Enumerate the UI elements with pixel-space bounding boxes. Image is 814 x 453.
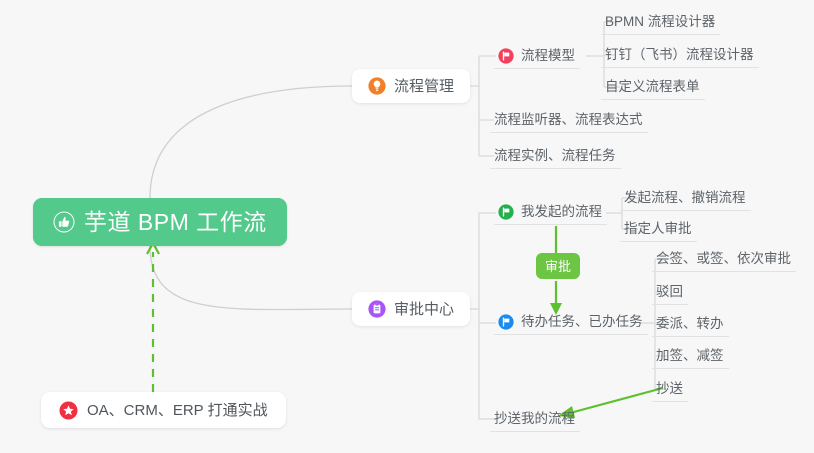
node-custom-form[interactable]: 自定义流程表单	[601, 74, 705, 100]
label-start-cancel-process: 发起流程、撤销流程	[624, 191, 746, 205]
label-process-instance: 流程实例、流程任务	[494, 149, 616, 163]
node-dingtalk-designer[interactable]: 钉钉（飞书）流程设计器	[601, 42, 759, 68]
node-cc[interactable]: 抄送	[652, 376, 688, 402]
label-process-model: 流程模型	[521, 49, 575, 63]
thumbs-up-icon	[53, 211, 75, 233]
root-node[interactable]: 芋道 BPM 工作流	[33, 198, 287, 246]
branch-node-process-management[interactable]: 流程管理	[352, 69, 470, 103]
node-countersign[interactable]: 会签、或签、依次审批	[652, 246, 796, 272]
branch-label-process-management: 流程管理	[394, 79, 454, 94]
label-cc: 抄送	[656, 382, 683, 396]
node-cc-to-me[interactable]: 抄送我的流程	[490, 406, 580, 432]
node-add-remove-sign[interactable]: 加签、减签	[652, 343, 729, 369]
label-bpmn-designer: BPMN 流程设计器	[605, 15, 715, 29]
integration-callout-label: OA、CRM、ERP 打通实战	[87, 403, 268, 418]
label-dingtalk-designer: 钉钉（飞书）流程设计器	[605, 48, 754, 62]
label-custom-form: 自定义流程表单	[605, 80, 700, 94]
node-bpmn-designer[interactable]: BPMN 流程设计器	[601, 9, 720, 35]
flag-icon	[498, 48, 514, 64]
integration-dashed-arrow	[147, 243, 159, 392]
node-process-model[interactable]: 流程模型	[494, 43, 580, 69]
branch-label-approval-center: 审批中心	[394, 302, 454, 317]
node-reject[interactable]: 驳回	[652, 279, 688, 305]
label-cc-to-me: 抄送我的流程	[494, 412, 575, 426]
node-delegate-transfer[interactable]: 委派、转办	[652, 311, 729, 337]
mindmap-canvas: 芋道 BPM 工作流 流程管理 流程模型 BPMN 流程设计器 钉钉（飞书）流程	[0, 0, 814, 453]
link-root-to-approval-center	[150, 246, 352, 310]
approval-flow-tag[interactable]: 审批	[536, 253, 580, 279]
root-label: 芋道 BPM 工作流	[84, 211, 267, 234]
node-my-initiated[interactable]: 我发起的流程	[494, 199, 607, 225]
flag-icon	[498, 204, 514, 220]
clipboard-icon	[368, 300, 386, 318]
label-process-listener: 流程监听器、流程表达式	[494, 113, 643, 127]
label-add-remove-sign: 加签、减签	[656, 349, 724, 363]
node-process-instance[interactable]: 流程实例、流程任务	[490, 143, 621, 169]
node-start-cancel-process[interactable]: 发起流程、撤销流程	[620, 185, 751, 211]
lightbulb-icon	[368, 77, 386, 95]
node-assigned-approval[interactable]: 指定人审批	[620, 216, 697, 242]
approval-flow-tag-label: 审批	[545, 260, 571, 273]
branch-node-approval-center[interactable]: 审批中心	[352, 292, 470, 326]
label-countersign: 会签、或签、依次审批	[656, 252, 791, 266]
label-assigned-approval: 指定人审批	[624, 222, 692, 236]
node-process-listener[interactable]: 流程监听器、流程表达式	[490, 107, 648, 133]
label-todo-done-tasks: 待办任务、已办任务	[521, 315, 643, 329]
star-icon	[59, 401, 78, 420]
label-reject: 驳回	[656, 285, 683, 299]
integration-callout[interactable]: OA、CRM、ERP 打通实战	[41, 392, 286, 428]
label-delegate-transfer: 委派、转办	[656, 317, 724, 331]
flag-icon	[498, 314, 514, 330]
label-my-initiated: 我发起的流程	[521, 205, 602, 219]
link-root-to-process-management	[150, 86, 352, 198]
node-todo-done-tasks[interactable]: 待办任务、已办任务	[494, 309, 648, 335]
